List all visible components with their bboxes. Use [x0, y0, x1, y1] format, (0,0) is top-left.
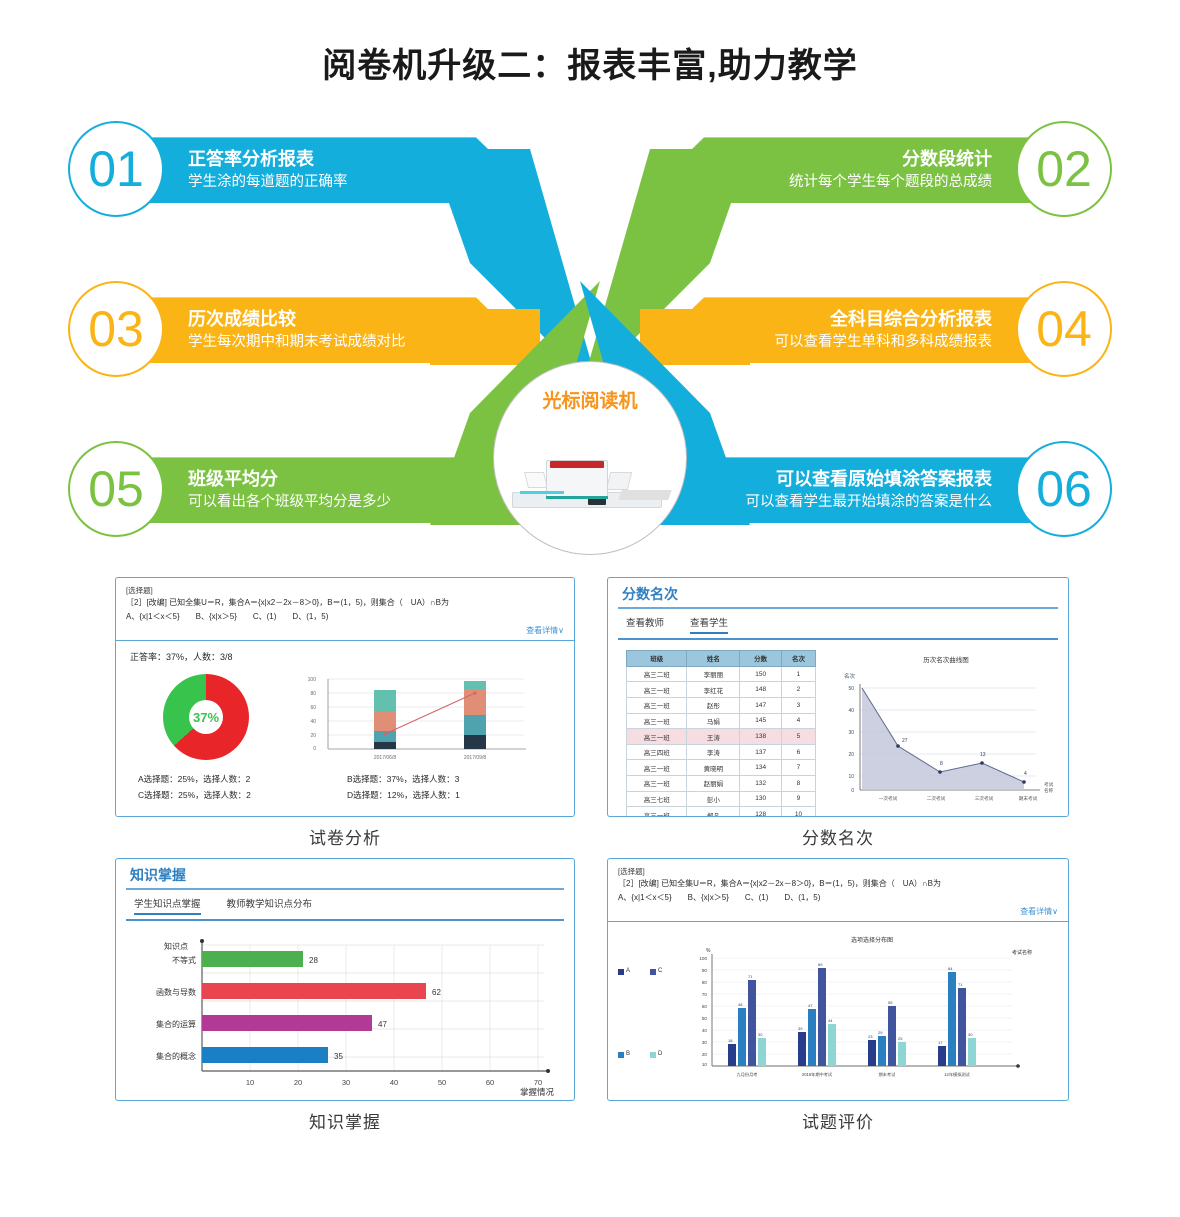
panel-heading-score-rank: 分数名次 [608, 578, 1068, 607]
svg-text:10: 10 [246, 1078, 254, 1087]
svg-text:48: 48 [738, 1002, 743, 1007]
item-subtitle-06: 可以查看学生最开始填涂的答案是什么 [710, 493, 992, 512]
knowledge-tabs: 学生知识点掌握 教师教学知识点分布 [116, 890, 574, 919]
score-rank-tabs: 查看教师 查看学生 [608, 609, 1068, 638]
item-banner-04[interactable]: 全科目综合分析报表 可以查看学生单科和多科成绩报表 [670, 297, 1040, 363]
svg-text:80: 80 [310, 691, 316, 697]
item-subtitle-01: 学生涂的每道题的正确率 [188, 173, 470, 192]
cell-rank: 2 [781, 682, 815, 698]
cell-class: 高三一班 [627, 760, 687, 776]
table-row[interactable]: 高三一班郑凡12810 [627, 807, 816, 818]
question-line2-1: A、{x|1＜x＜5} B、{x|x＞5} C、(1) D、(1，5) [126, 611, 564, 623]
item-title-01: 正答率分析报表 [188, 148, 470, 171]
svg-text:40: 40 [702, 1028, 708, 1033]
svg-text:23: 23 [868, 1034, 873, 1039]
question-tag-1: [选择题] [126, 585, 564, 596]
cell-class: 高三一班 [627, 713, 687, 729]
item-title-02: 分数段统计 [710, 148, 992, 171]
svg-text:13: 13 [980, 752, 986, 758]
hub-label: 光标阅读机 [494, 386, 686, 413]
legend-item-a: A [618, 930, 650, 1013]
svg-text:集合的概念: 集合的概念 [156, 1051, 196, 1061]
scanner-machine-icon [512, 450, 670, 514]
cell-rank: 7 [781, 760, 815, 776]
legend-item-d: D [650, 1013, 682, 1096]
view-detail-link-1[interactable]: 查看详情∨ [126, 625, 564, 636]
cell-name: 黄晓明 [687, 760, 740, 776]
svg-text:27: 27 [902, 738, 908, 744]
tab-teacher-knowledge[interactable]: 教师教学知识点分布 [227, 896, 313, 915]
page-title: 阅卷机升级二：报表丰富,助力教学 [0, 0, 1180, 85]
svg-text:60: 60 [702, 1004, 708, 1009]
caption-score-rank: 分数名次 [607, 824, 1069, 849]
svg-text:2017/09/8: 2017/09/8 [464, 755, 486, 761]
table-header-row: 班级 姓名 分数 名次 [627, 650, 816, 666]
col-score: 分数 [740, 650, 782, 666]
svg-text:60: 60 [310, 705, 316, 711]
knowledge-bar-chart: 知识点 2 [124, 927, 564, 1099]
cell-rank: 6 [781, 744, 815, 760]
svg-text:47: 47 [808, 1003, 813, 1008]
table-row[interactable]: 高三四班李涛1376 [627, 744, 816, 760]
cell-rank: 1 [781, 666, 815, 682]
table-row[interactable]: 高三一班赵丽娟1328 [627, 776, 816, 792]
svg-text:89: 89 [818, 962, 823, 967]
cell-name: 李涛 [687, 744, 740, 760]
caption-exam-analysis: 试卷分析 [115, 824, 575, 849]
cell-class: 高三一班 [627, 776, 687, 792]
tab-view-student[interactable]: 查看学生 [690, 615, 728, 634]
item-subtitle-04: 可以查看学生单科和多科成绩报表 [710, 333, 992, 352]
rank-curve-title: 历次名次曲线图 [923, 655, 969, 664]
svg-text:20: 20 [294, 1078, 302, 1087]
option-stat-c: C选择题：25%，选择人数：2 [138, 787, 347, 803]
svg-text:0: 0 [313, 746, 316, 752]
item-number-03: 03 [68, 281, 164, 377]
svg-text:70: 70 [534, 1078, 542, 1087]
question-block-2: [选择题] ［2］[改编] 已知全集U＝R，集合A＝{x|x2－2x－8＞0}，… [608, 859, 1068, 922]
svg-text:不等式: 不等式 [172, 955, 196, 965]
item-eval-bar-chart: 选项选择分布图 考试名称 % 100 90 80 [682, 930, 1052, 1096]
cell-score: 150 [740, 666, 782, 682]
svg-text:30: 30 [848, 730, 854, 736]
score-trend-chart: 100 80 60 40 20 0 [296, 669, 546, 765]
correct-rate-text: 正答率：37%，人数：3/8 [116, 641, 574, 663]
cell-name: 王涛 [687, 729, 740, 745]
cell-name: 赵彤 [687, 698, 740, 714]
caption-item-eval: 试题评价 [607, 1108, 1069, 1133]
item-number-01: 01 [68, 121, 164, 217]
svg-text:60: 60 [486, 1078, 494, 1087]
cell-score: 130 [740, 791, 782, 807]
item-banner-05[interactable]: 班级平均分 可以看出各个班级平均分是多少 [140, 457, 510, 523]
svg-text:50: 50 [702, 1016, 708, 1021]
question-line1-2: ［2］[改编] 已知全集U＝R，集合A＝{x|x2－2x－8＞0}，B＝(1，5… [618, 878, 1058, 890]
panel-score-rank[interactable]: 分数名次 查看教师 查看学生 班级 姓名 分数 名次 高三二班李丽丽 [607, 577, 1069, 817]
svg-text:名次: 名次 [844, 672, 856, 680]
svg-text:50: 50 [848, 686, 854, 692]
item-subtitle-05: 可以看出各个班级平均分是多少 [188, 493, 470, 512]
item-eval-x-caption: 考试名称 [1012, 949, 1032, 956]
infographic-diagram: 光标阅读机 01 正答率分析报表 学生涂的每道题的正确率 02 分数段统计 统计… [0, 103, 1180, 573]
cell-score: 128 [740, 807, 782, 818]
svg-text:62: 62 [432, 988, 441, 997]
svg-text:35: 35 [334, 1052, 343, 1061]
cell-class: 高三一班 [627, 682, 687, 698]
cell-name: 马娟 [687, 713, 740, 729]
svg-text:期末考试: 期末考试 [1019, 795, 1038, 802]
caption-knowledge: 知识掌握 [115, 1108, 575, 1133]
svg-text:90: 90 [702, 968, 708, 973]
view-detail-link-2[interactable]: 查看详情∨ [618, 906, 1058, 917]
cell-rank: 9 [781, 791, 815, 807]
cell-score: 145 [740, 713, 782, 729]
cell-score: 137 [740, 744, 782, 760]
item-subtitle-02: 统计每个学生每个题段的总成绩 [710, 173, 992, 192]
option-stat-b: B选择题：37%，选择人数：3 [347, 771, 556, 787]
cell-class: 高三二班 [627, 666, 687, 682]
tab-student-knowledge[interactable]: 学生知识点掌握 [134, 896, 201, 915]
svg-text:30: 30 [702, 1040, 708, 1045]
svg-text:名称: 名称 [1044, 787, 1054, 794]
shot-knowledge: 知识掌握 学生知识点掌握 教师教学知识点分布 知识点 [115, 858, 575, 1133]
svg-text:71: 71 [958, 982, 963, 987]
item-number-05: 05 [68, 441, 164, 537]
shot-exam-analysis: [选择题] ［2］[改编] 已知全集U＝R，集合A＝{x|x2－2x－8＞0}，… [115, 577, 575, 849]
cell-rank: 5 [781, 729, 815, 745]
center-hub: 光标阅读机 [493, 361, 687, 555]
svg-text:47: 47 [378, 1020, 387, 1029]
question-line1-1: ［2］[改编] 已知全集U＝R，集合A＝{x|x2－2x－8＞0}，B＝(1，5… [126, 597, 564, 609]
cell-name: 郑凡 [687, 807, 740, 818]
svg-text:30: 30 [342, 1078, 350, 1087]
shot-score-rank: 分数名次 查看教师 查看学生 班级 姓名 分数 名次 高三二班李丽丽 [607, 577, 1069, 849]
item-title-03: 历次成绩比较 [188, 308, 470, 331]
panel-item-eval[interactable]: [选择题] ［2］[改编] 已知全集U＝R，集合A＝{x|x2－2x－8＞0}，… [607, 858, 1069, 1101]
svg-text:集合的运算: 集合的运算 [156, 1019, 196, 1029]
cell-score: 134 [740, 760, 782, 776]
svg-text:10: 10 [702, 1062, 708, 1067]
svg-text:12年模拟测试: 12年模拟测试 [944, 1071, 970, 1078]
svg-text:71: 71 [748, 974, 753, 979]
svg-text:20: 20 [848, 752, 854, 758]
item-eval-title: 选项选择分布图 [851, 936, 893, 944]
cell-rank: 8 [781, 776, 815, 792]
question-line2-2: A、{x|1＜x＜5} B、{x|x＞5} C、(1) D、(1，5) [618, 892, 1058, 904]
donut-center-label: 37% [163, 674, 249, 760]
cell-score: 132 [740, 776, 782, 792]
cell-score: 138 [740, 729, 782, 745]
table-row[interactable]: 高三一班黄晓明1347 [627, 760, 816, 776]
svg-text:期末考试: 期末考试 [879, 1071, 897, 1078]
svg-text:28: 28 [309, 956, 318, 965]
svg-text:70: 70 [702, 992, 708, 997]
item-banner-02[interactable]: 分数段统计 统计每个学生每个题段的总成绩 [670, 137, 1040, 203]
svg-text:25: 25 [898, 1036, 903, 1041]
svg-text:50: 50 [438, 1078, 446, 1087]
cell-class: 高三四班 [627, 744, 687, 760]
item-number-04: 04 [1016, 281, 1112, 377]
cell-class: 高三一班 [627, 698, 687, 714]
svg-text:%: % [706, 948, 711, 954]
table-row[interactable]: 高三二班李丽丽1501 [627, 666, 816, 682]
cell-name: 李丽丽 [687, 666, 740, 682]
svg-text:10: 10 [848, 774, 854, 780]
svg-text:二次考试: 二次考试 [927, 795, 946, 802]
item-subtitle-03: 学生每次期中和期末考试成绩对比 [188, 333, 470, 352]
cell-rank: 3 [781, 698, 815, 714]
col-class: 班级 [627, 650, 687, 666]
svg-text:84: 84 [948, 966, 953, 971]
legend-item-b: B [618, 1013, 650, 1096]
cell-score: 148 [740, 682, 782, 698]
screenshot-gallery: [选择题] ［2］[改编] 已知全集U＝R，集合A＝{x|x2－2x－8＞0}，… [0, 577, 1180, 1217]
tab-view-teacher[interactable]: 查看教师 [626, 615, 664, 634]
rank-table[interactable]: 班级 姓名 分数 名次 高三二班李丽丽1501 高三一班李红花1482 高三一班… [626, 650, 816, 818]
tabs-rule [618, 638, 1058, 640]
knowledge-y-label: 知识点 [164, 941, 188, 951]
cell-score: 147 [740, 698, 782, 714]
svg-text:40: 40 [848, 708, 854, 714]
svg-text:九月份月考: 九月份月考 [737, 1071, 758, 1078]
panel-knowledge[interactable]: 知识掌握 学生知识点掌握 教师教学知识点分布 知识点 [115, 858, 575, 1101]
knowledge-x-label: 掌握情况 [520, 1087, 555, 1097]
item-banner-06[interactable]: 可以查看原始填涂答案报表 可以查看学生最开始填涂的答案是什么 [670, 457, 1040, 523]
svg-text:0: 0 [851, 788, 854, 794]
col-name: 姓名 [687, 650, 740, 666]
svg-text:17: 17 [938, 1040, 943, 1045]
svg-text:39: 39 [798, 1026, 803, 1031]
item-banner-01[interactable]: 正答率分析报表 学生涂的每道题的正确率 [140, 137, 510, 203]
svg-text:20: 20 [702, 1052, 708, 1057]
item-banner-03[interactable]: 历次成绩比较 学生每次期中和期末考试成绩对比 [140, 297, 510, 363]
cell-class: 高三一班 [627, 807, 687, 818]
table-row[interactable]: 高三一班赵彤1473 [627, 698, 816, 714]
svg-text:44: 44 [828, 1018, 833, 1023]
svg-text:三次考试: 三次考试 [975, 795, 994, 802]
svg-text:8: 8 [940, 761, 943, 767]
shot-item-eval: [选择题] ［2］[改编] 已知全集U＝R，集合A＝{x|x2－2x－8＞0}，… [607, 858, 1069, 1133]
item-number-02: 02 [1016, 121, 1112, 217]
item-title-06: 可以查看原始填涂答案报表 [710, 468, 992, 491]
item-title-04: 全科目综合分析报表 [710, 308, 992, 331]
cell-rank: 4 [781, 713, 815, 729]
item-eval-legend: A C B D [618, 930, 682, 1096]
svg-text:2017/06/8: 2017/06/8 [374, 755, 396, 761]
legend-item-c: C [650, 930, 682, 1013]
table-row[interactable]: 高三一班李红花1482 [627, 682, 816, 698]
cell-class: 高三七班 [627, 791, 687, 807]
cell-rank: 10 [781, 807, 815, 818]
table-row[interactable]: 高三七班彭小1309 [627, 791, 816, 807]
svg-text:30: 30 [968, 1032, 973, 1037]
panel-exam-analysis[interactable]: [选择题] ［2］[改编] 已知全集U＝R，集合A＝{x|x2－2x－8＞0}，… [115, 577, 575, 817]
option-stats-list: A选择题：25%，选择人数：2 B选择题：37%，选择人数：3 C选择题：25%… [116, 765, 574, 803]
cell-name: 赵丽娟 [687, 776, 740, 792]
svg-text:40: 40 [310, 719, 316, 725]
cell-name: 李红花 [687, 682, 740, 698]
svg-text:考试: 考试 [1044, 781, 1054, 788]
col-rank: 名次 [781, 650, 815, 666]
table-row-highlighted[interactable]: 高三一班王涛1385 [627, 729, 816, 745]
svg-text:18: 18 [728, 1038, 733, 1043]
question-tag-2: [选择题] [618, 866, 1058, 877]
svg-text:29: 29 [878, 1030, 883, 1035]
cell-class: 高三一班 [627, 729, 687, 745]
option-stat-d: D选择题：12%，选择人数：1 [347, 787, 556, 803]
svg-text:55: 55 [888, 1000, 893, 1005]
cell-name: 彭小 [687, 791, 740, 807]
svg-text:80: 80 [702, 980, 708, 985]
svg-text:一次考试: 一次考试 [879, 795, 898, 802]
option-stat-a: A选择题：25%，选择人数：2 [138, 771, 347, 787]
question-block-1: [选择题] ［2］[改编] 已知全集U＝R，集合A＝{x|x2－2x－8＞0}，… [116, 578, 574, 641]
svg-text:函数与导数: 函数与导数 [156, 987, 196, 997]
svg-text:40: 40 [390, 1078, 398, 1087]
panel-heading-knowledge: 知识掌握 [116, 859, 574, 888]
rank-curve-chart: 历次名次曲线图 名次 50 40 30 20 10 [828, 650, 1056, 816]
item-number-06: 06 [1016, 441, 1112, 537]
svg-text:4: 4 [1024, 771, 1027, 777]
svg-text:30: 30 [758, 1032, 763, 1037]
svg-text:2018年期中考试: 2018年期中考试 [802, 1071, 833, 1078]
table-row[interactable]: 高三一班马娟1454 [627, 713, 816, 729]
tabs-rule [126, 919, 564, 921]
svg-text:20: 20 [310, 733, 316, 739]
svg-text:100: 100 [699, 956, 707, 961]
svg-text:100: 100 [308, 677, 317, 683]
item-title-05: 班级平均分 [188, 468, 470, 491]
